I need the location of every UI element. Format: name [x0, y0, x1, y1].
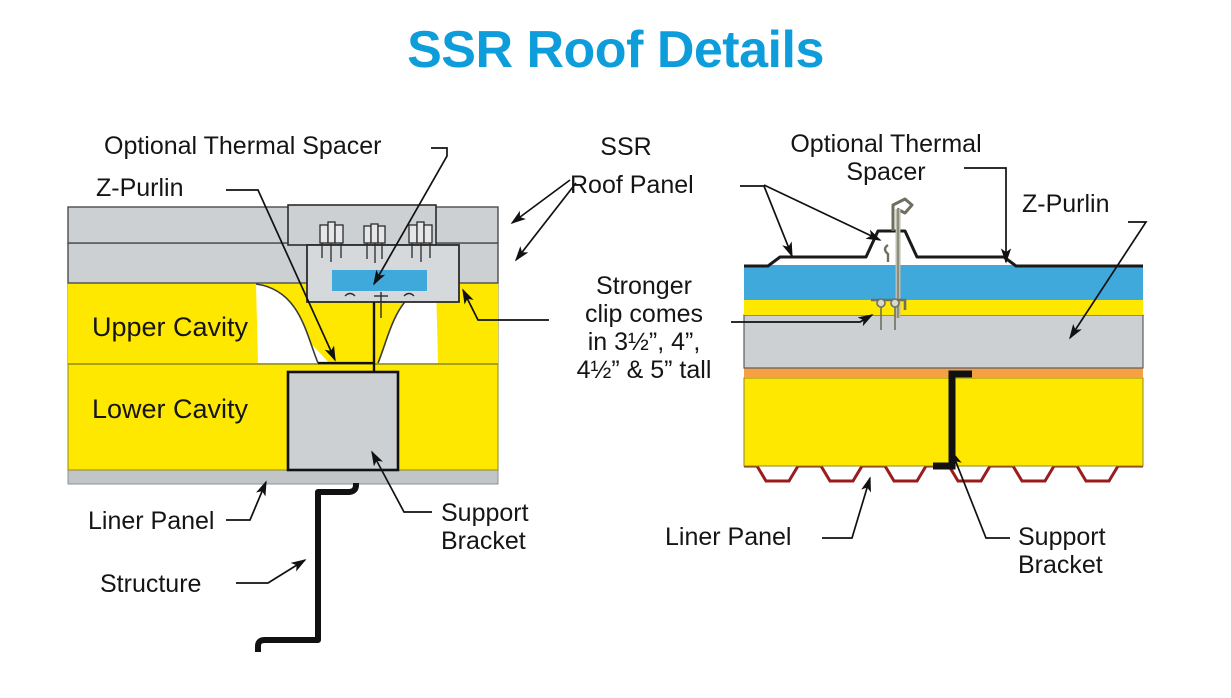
leader-liner-panel-right — [822, 478, 870, 538]
label-roof-panel: Roof Panel — [570, 171, 694, 199]
leader-structure-left — [236, 560, 305, 583]
label-stronger-clip: Stronger clip comes in 3½”, 4”, 4½” & 5”… — [556, 272, 732, 384]
label-liner-panel-left: Liner Panel — [88, 507, 214, 535]
label-z-purlin-right: Z-Purlin — [1022, 190, 1110, 218]
leader-roof-panel-right — [740, 186, 792, 256]
right-orange-band — [744, 368, 1143, 378]
label-support-bracket-right: Support Bracket — [1018, 523, 1106, 579]
diagram-stage: Optional Thermal Spacer Z-Purlin Upper C… — [0, 0, 1231, 698]
left-structure-z-member — [258, 483, 356, 652]
right-thermal-spacer — [744, 265, 1143, 300]
label-structure: Structure — [100, 570, 201, 598]
label-z-purlin-left: Z-Purlin — [96, 174, 184, 202]
label-ssr: SSR — [566, 133, 686, 161]
label-optional-thermal-spacer-left: Optional Thermal Spacer — [104, 132, 381, 160]
left-support-bracket — [288, 372, 398, 470]
label-upper-cavity: Upper Cavity — [92, 312, 248, 342]
label-liner-panel-right: Liner Panel — [665, 523, 791, 551]
left-liner-panel — [68, 470, 498, 484]
label-support-bracket-left: Support Bracket — [441, 499, 529, 555]
label-optional-thermal-spacer-right: Optional Thermal Spacer — [768, 130, 1004, 186]
right-insulation-cavity — [744, 378, 1143, 466]
right-thin-insulation — [744, 300, 1143, 315]
label-lower-cavity: Lower Cavity — [92, 394, 248, 424]
leader-roof-panel-to-purlin-layer — [516, 183, 576, 260]
leader-liner-panel-left — [226, 482, 266, 520]
right-purlin-layer — [744, 315, 1143, 368]
